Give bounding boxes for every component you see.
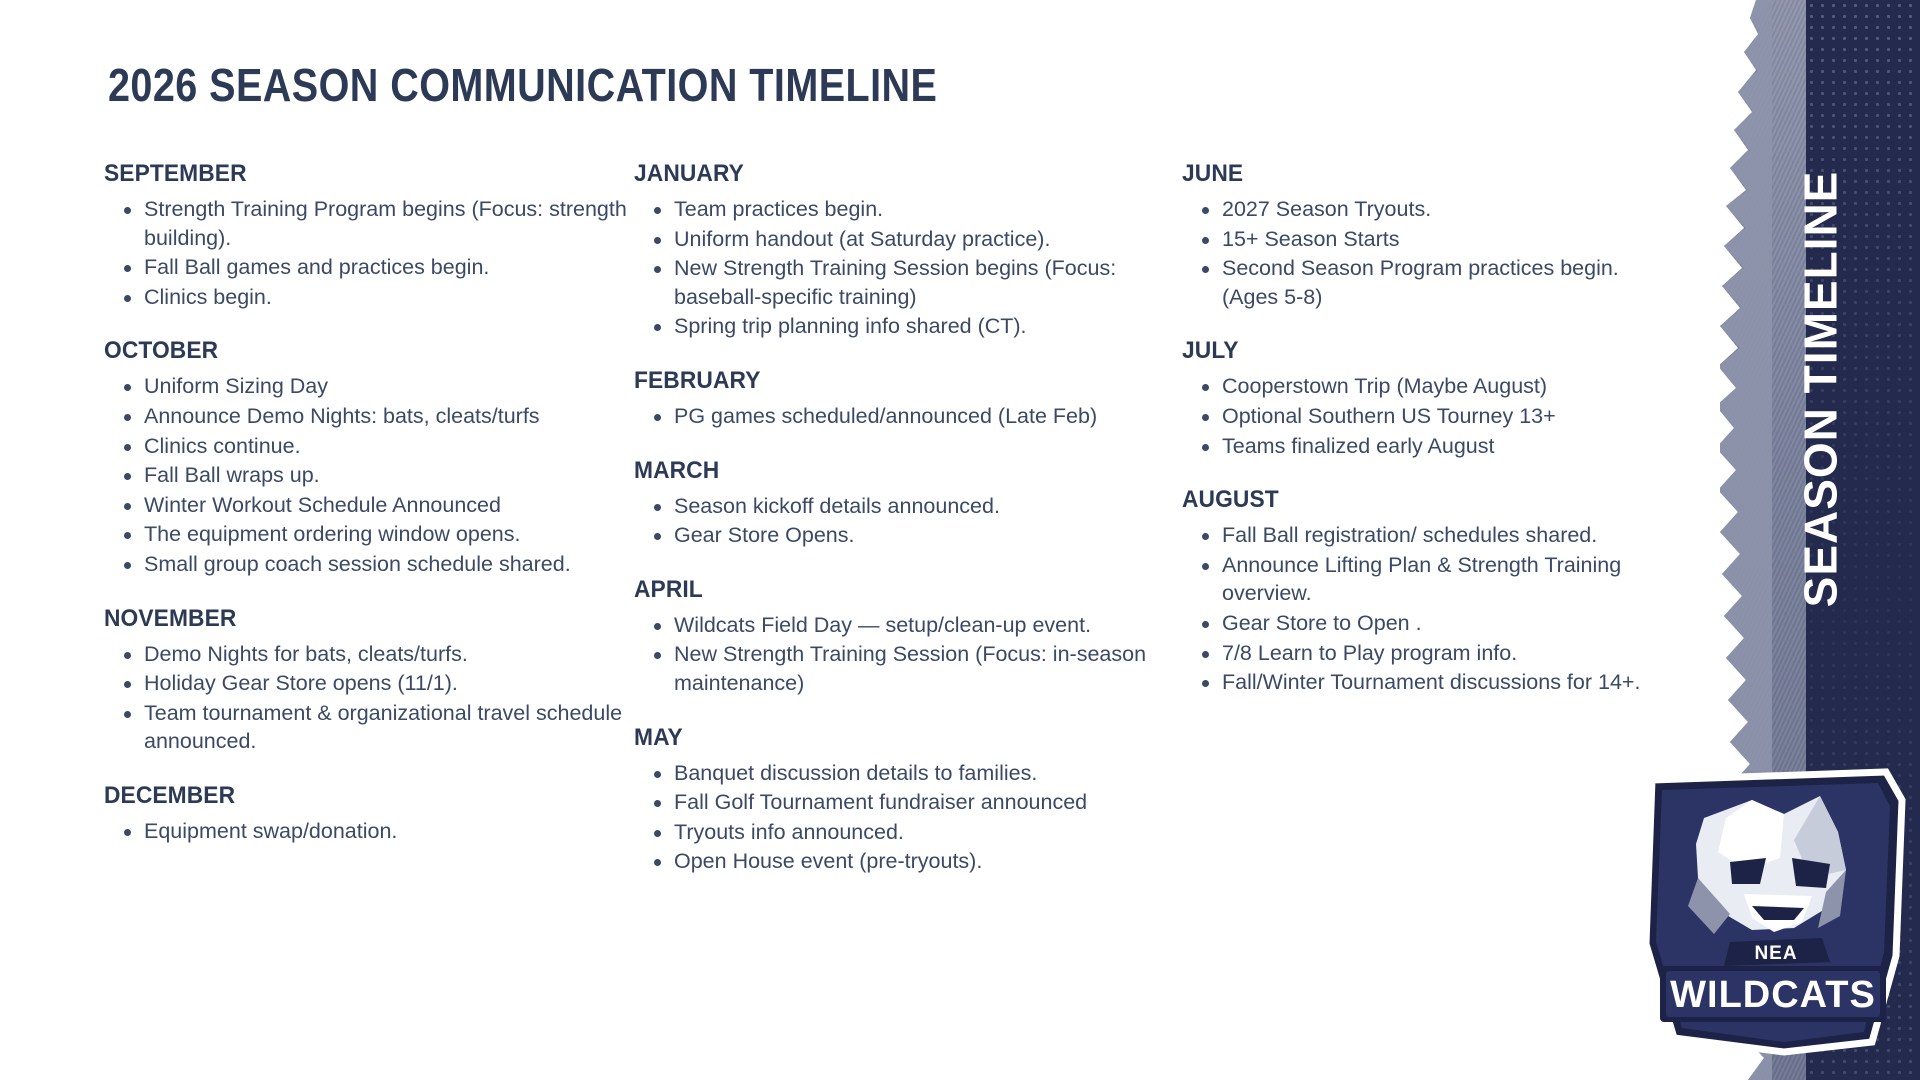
logo-artwork: NEA WILDCATS [1634, 766, 1912, 1056]
month-heading: APRIL [634, 576, 1144, 604]
logo-top-banner: NEA [1724, 938, 1830, 966]
list-item: Fall Ball registration/ schedules shared… [1182, 521, 1652, 550]
list-item: The equipment ordering window opens. [104, 520, 634, 549]
month-block: MARCHSeason kickoff details announced.Ge… [634, 457, 1182, 550]
month-item-list: Equipment swap/donation. [104, 817, 634, 846]
list-item: Uniform handout (at Saturday practice). [634, 225, 1182, 254]
month-heading: DECEMBER [104, 782, 597, 810]
month-heading: JUNE [1182, 160, 1619, 188]
timeline-column-3: JUNE2027 Season Tryouts.15+ Season Start… [1182, 160, 1652, 698]
list-item: 2027 Season Tryouts. [1182, 195, 1652, 224]
list-item: Demo Nights for bats, cleats/turfs. [104, 640, 634, 669]
list-item: Fall Ball wraps up. [104, 461, 634, 490]
list-item: Open House event (pre-tryouts). [634, 847, 1182, 876]
month-block: APRILWildcats Field Day — setup/clean-up… [634, 576, 1182, 698]
list-item: Uniform Sizing Day [104, 372, 634, 401]
month-block: DECEMBEREquipment swap/donation. [104, 782, 634, 846]
list-item: Equipment swap/donation. [104, 817, 634, 846]
list-item: 7/8 Learn to Play program info. [1182, 639, 1652, 668]
list-item: Fall Ball games and practices begin. [104, 253, 634, 282]
list-item: Clinics begin. [104, 283, 634, 312]
list-item: Optional Southern US Tourney 13+ [1182, 402, 1652, 431]
month-heading: MAY [634, 724, 1144, 752]
month-block: JUNE2027 Season Tryouts.15+ Season Start… [1182, 160, 1652, 311]
month-heading: NOVEMBER [104, 605, 597, 633]
month-block: JANUARYTeam practices begin.Uniform hand… [634, 160, 1182, 341]
list-item: New Strength Training Session (Focus: in… [634, 640, 1182, 697]
month-heading: AUGUST [1182, 486, 1619, 514]
list-item: Wildcats Field Day — setup/clean-up even… [634, 611, 1182, 640]
list-item: New Strength Training Session begins (Fo… [634, 254, 1182, 311]
list-item: Team tournament & organizational travel … [104, 699, 634, 756]
list-item: Announce Lifting Plan & Strength Trainin… [1182, 551, 1652, 608]
list-item: 15+ Season Starts [1182, 225, 1652, 254]
list-item: Teams finalized early August [1182, 432, 1652, 461]
month-heading: MARCH [634, 457, 1144, 485]
list-item: Spring trip planning info shared (CT). [634, 312, 1182, 341]
month-item-list: 2027 Season Tryouts.15+ Season StartsSec… [1182, 195, 1652, 311]
list-item: Holiday Gear Store opens (11/1). [104, 669, 634, 698]
list-item: Season kickoff details announced. [634, 492, 1182, 521]
month-block: AUGUSTFall Ball registration/ schedules … [1182, 486, 1652, 697]
timeline-column-1: SEPTEMBERStrength Training Program begin… [104, 160, 634, 847]
list-item: Strength Training Program begins (Focus:… [104, 195, 634, 252]
list-item: Cooperstown Trip (Maybe August) [1182, 372, 1652, 401]
list-item: PG games scheduled/announced (Late Feb) [634, 402, 1182, 431]
month-block: NOVEMBERDemo Nights for bats, cleats/tur… [104, 605, 634, 756]
month-item-list: Team practices begin.Uniform handout (at… [634, 195, 1182, 341]
list-item: Gear Store Opens. [634, 521, 1182, 550]
month-item-list: Strength Training Program begins (Focus:… [104, 195, 634, 311]
month-heading: FEBRUARY [634, 367, 1144, 395]
month-item-list: Uniform Sizing DayAnnounce Demo Nights: … [104, 372, 634, 578]
month-block: SEPTEMBERStrength Training Program begin… [104, 160, 634, 311]
month-item-list: Banquet discussion details to families.F… [634, 759, 1182, 876]
logo-wordmark: WILDCATS [1660, 966, 1886, 1022]
month-item-list: PG games scheduled/announced (Late Feb) [634, 402, 1182, 431]
wildcat-head-icon [1688, 796, 1846, 934]
month-item-list: Wildcats Field Day — setup/clean-up even… [634, 611, 1182, 698]
month-block: FEBRUARYPG games scheduled/announced (La… [634, 367, 1182, 431]
month-item-list: Demo Nights for bats, cleats/turfs.Holid… [104, 640, 634, 756]
list-item: Announce Demo Nights: bats, cleats/turfs [104, 402, 634, 431]
month-item-list: Season kickoff details announced.Gear St… [634, 492, 1182, 550]
month-block: JULYCooperstown Trip (Maybe August)Optio… [1182, 337, 1652, 460]
timeline-poster: 2026 SEASON COMMUNICATION TIMELINE SEPTE… [0, 0, 1920, 1080]
list-item: Small group coach session schedule share… [104, 550, 634, 579]
list-item: Gear Store to Open . [1182, 609, 1652, 638]
month-heading: JULY [1182, 337, 1619, 365]
list-item: Fall/Winter Tournament discussions for 1… [1182, 668, 1652, 697]
timeline-column-2: JANUARYTeam practices begin.Uniform hand… [634, 160, 1182, 877]
month-heading: OCTOBER [104, 337, 597, 365]
logo-top-text: NEA [1754, 943, 1797, 964]
list-item: Team practices begin. [634, 195, 1182, 224]
list-item: Tryouts info announced. [634, 818, 1182, 847]
nea-wildcats-logo: NEA WILDCATS [1634, 766, 1912, 1056]
list-item: Clinics continue. [104, 432, 634, 461]
list-item: Winter Workout Schedule Announced [104, 491, 634, 520]
month-heading: JANUARY [634, 160, 1144, 188]
logo-main-text: WILDCATS [1670, 974, 1876, 1016]
list-item: Second Season Program practices begin. (… [1182, 254, 1652, 311]
month-block: MAYBanquet discussion details to familie… [634, 724, 1182, 876]
month-item-list: Fall Ball registration/ schedules shared… [1182, 521, 1652, 697]
month-item-list: Cooperstown Trip (Maybe August)Optional … [1182, 372, 1652, 460]
timeline-columns: SEPTEMBERStrength Training Program begin… [104, 160, 1704, 877]
month-heading: SEPTEMBER [104, 160, 597, 188]
list-item: Banquet discussion details to families. [634, 759, 1182, 788]
month-block: OCTOBERUniform Sizing DayAnnounce Demo N… [104, 337, 634, 578]
list-item: Fall Golf Tournament fundraiser announce… [634, 788, 1182, 817]
page-title: 2026 SEASON COMMUNICATION TIMELINE [108, 58, 937, 112]
